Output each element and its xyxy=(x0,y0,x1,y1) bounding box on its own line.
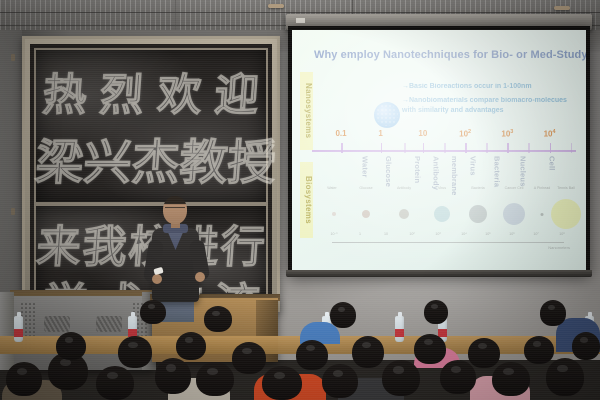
wall-hook xyxy=(11,208,15,215)
audience-head xyxy=(176,332,206,360)
wall-hook xyxy=(11,54,15,61)
head-highlight xyxy=(212,311,220,316)
eyeglasses xyxy=(165,207,185,213)
audience-head xyxy=(540,300,566,326)
ceiling-seam xyxy=(0,12,600,13)
head-highlight xyxy=(207,368,218,375)
projection-screen: Why employ Nanotechniques for Bio- or Me… xyxy=(292,30,586,270)
water-bottle xyxy=(14,316,23,342)
audience-head xyxy=(204,306,232,332)
head-highlight xyxy=(274,372,285,379)
lecturer-right-hand xyxy=(195,272,205,282)
head-highlight xyxy=(580,337,588,343)
audience-head xyxy=(322,364,358,398)
audience-head xyxy=(6,362,42,396)
head-highlight xyxy=(107,372,118,379)
lecturer-left-hand xyxy=(152,274,162,284)
screen-glare xyxy=(292,30,586,270)
blackboard-panel-top: 热 烈 欢 迎 梁 兴 杰 教 授 xyxy=(34,48,268,204)
water-bottle xyxy=(395,316,404,342)
audience-head xyxy=(96,366,134,400)
head-highlight xyxy=(166,364,176,371)
head-highlight xyxy=(17,368,27,375)
head-highlight xyxy=(128,342,138,348)
audience-head xyxy=(330,302,356,328)
head-highlight xyxy=(503,368,514,375)
chalk-dust xyxy=(36,50,266,202)
speaker-grille xyxy=(96,316,122,332)
head-highlight xyxy=(338,307,345,312)
head-highlight xyxy=(333,370,343,377)
audience-head xyxy=(352,336,384,368)
audience-head xyxy=(524,336,554,364)
head-highlight xyxy=(362,342,371,348)
projection-screen-bottom-rail xyxy=(286,270,592,277)
head-highlight xyxy=(431,304,438,309)
head-highlight xyxy=(451,366,461,373)
lecture-hall-photo: 热 烈 欢 迎 梁 兴 杰 教 授 来 我 校 xyxy=(0,0,600,400)
audience-head xyxy=(262,366,302,400)
audience-head xyxy=(118,336,152,368)
head-highlight xyxy=(393,366,404,373)
audience-head xyxy=(440,360,476,394)
audience-head xyxy=(572,332,600,360)
ceiling-fixture xyxy=(554,6,570,10)
audience-head xyxy=(492,362,530,396)
speaker-grille xyxy=(44,316,70,332)
av-cabinet-post-left xyxy=(0,292,14,370)
audience-head xyxy=(546,358,584,396)
audience-head xyxy=(155,358,191,394)
head-highlight xyxy=(548,305,555,310)
ceiling-fixture xyxy=(268,4,284,8)
head-highlight xyxy=(533,341,541,347)
audience-head xyxy=(56,332,86,360)
audience-head xyxy=(196,362,234,396)
ceiling-panel-divider xyxy=(175,0,176,34)
head-highlight xyxy=(185,337,193,343)
audience-head xyxy=(232,342,266,374)
audience-head xyxy=(382,360,420,396)
head-highlight xyxy=(242,348,252,354)
head-highlight xyxy=(65,337,73,343)
